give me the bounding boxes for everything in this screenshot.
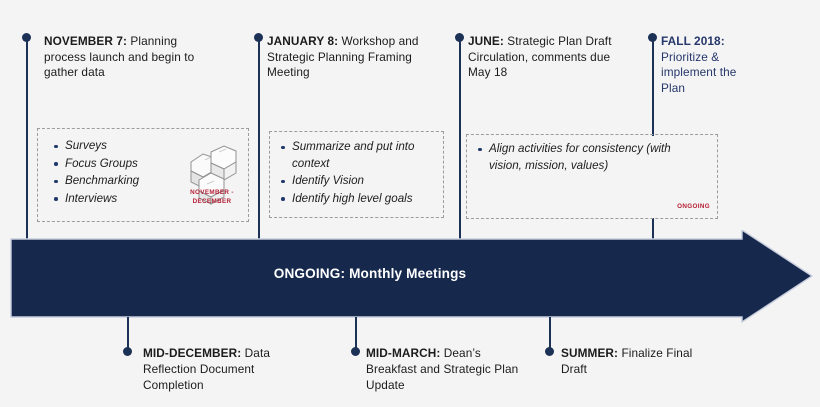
milestone-stem-january-8 xyxy=(258,38,260,240)
milestone-stem-june xyxy=(459,38,461,240)
milestone-marker-mid-december xyxy=(123,347,132,356)
list-item: Identify Vision xyxy=(279,173,437,190)
list-item: Interviews xyxy=(52,191,172,208)
caption-heading-november-7: NOVEMBER 7: xyxy=(44,34,127,48)
caption-body-fall-2018: Prioritize & implement the Plan xyxy=(661,50,736,95)
list-item: Identify high level goals xyxy=(279,191,437,208)
banner-label: ONGOING: Monthly Meetings xyxy=(0,266,740,281)
caption-heading-june: JUNE: xyxy=(468,34,504,48)
caption-november-7: NOVEMBER 7: Planning process launch and … xyxy=(44,34,219,81)
milestone-marker-summer xyxy=(545,347,554,356)
milestone-stem-fall-2018 xyxy=(652,38,654,136)
list-item: Focus Groups xyxy=(52,156,172,173)
milestone-stem-mid-december xyxy=(127,317,129,350)
milestone-stem-mid-march xyxy=(355,317,357,350)
list-item: Surveys xyxy=(52,138,172,155)
caption-mid-december: MID-DECEMBER: Data Reflection Document C… xyxy=(143,345,303,393)
tag-line-1: ONGOING xyxy=(677,203,710,210)
list-item: Summarize and put into context xyxy=(279,139,437,172)
caption-mid-march: MID-MARCH: Dean’s Breakfast and Strategi… xyxy=(366,345,531,393)
caption-june: JUNE: Strategic Plan Draft Circulation, … xyxy=(468,34,628,81)
milestone-stem-summer xyxy=(549,317,551,350)
timeline-infographic: NOVEMBER 7: Planning process launch and … xyxy=(0,0,820,407)
milestone-stem-november-7 xyxy=(26,38,28,240)
caption-heading-mid-december: MID-DECEMBER: xyxy=(143,346,241,360)
milestone-marker-mid-march xyxy=(351,347,360,356)
list-item: Align activities for consistency (with v… xyxy=(476,141,704,174)
tag-line-2: DECEMBER xyxy=(193,198,232,205)
detail-list-discovery: Surveys Focus Groups Benchmarking Interv… xyxy=(52,138,172,208)
caption-heading-mid-march: MID-MARCH: xyxy=(366,346,440,360)
detail-list-framing: Summarize and put into context Identify … xyxy=(279,139,437,208)
list-item: Benchmarking xyxy=(52,173,172,190)
caption-heading-january-8: JANUARY 8: xyxy=(267,34,338,48)
detail-list-alignment: Align activities for consistency (with v… xyxy=(476,141,704,175)
caption-fall-2018: FALL 2018: Prioritize & implement the Pl… xyxy=(661,34,761,96)
caption-heading-summer: SUMMER: xyxy=(561,346,618,360)
caption-january-8: JANUARY 8: Workshop and Strategic Planni… xyxy=(267,34,447,81)
detail-box-tag-ongoing: ONGOING xyxy=(600,202,710,211)
detail-box-tag-november-december: NOVEMBER - DECEMBER xyxy=(178,188,246,206)
caption-heading-fall-2018: FALL 2018: xyxy=(661,34,725,48)
tag-line-1: NOVEMBER - xyxy=(190,189,234,196)
caption-summer: SUMMER: Finalize Final Draft xyxy=(561,345,721,377)
